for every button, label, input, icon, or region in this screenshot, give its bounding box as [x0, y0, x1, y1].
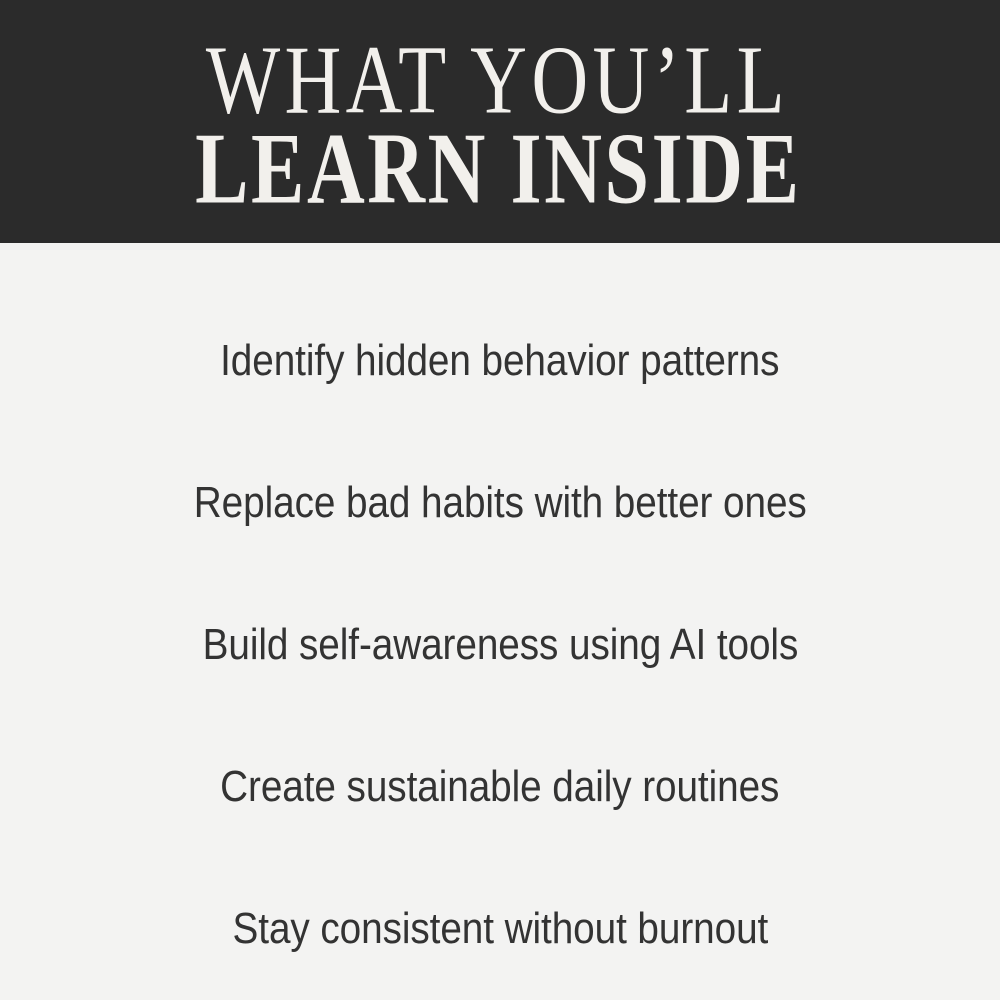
page-title-line-2: LEARN INSIDE [196, 120, 805, 218]
benefits-list: Identify hidden behavior patterns Replac… [0, 243, 1000, 1000]
list-item: Replace bad habits with better ones [0, 432, 1000, 574]
header-band: WHAT YOU’LL LEARN INSIDE [0, 0, 1000, 243]
benefit-text: Create sustainable daily routines [220, 763, 779, 811]
benefit-text: Stay consistent without burnout [232, 905, 768, 953]
slide-root: WHAT YOU’LL LEARN INSIDE Identify hidden… [0, 0, 1000, 1000]
list-item: Identify hidden behavior patterns [0, 290, 1000, 432]
benefit-text: Identify hidden behavior patterns [220, 337, 779, 385]
benefit-text: Replace bad habits with better ones [194, 479, 807, 527]
list-item: Stay consistent without burnout [0, 858, 1000, 1000]
list-item: Build self-awareness using AI tools [0, 574, 1000, 716]
page-title: WHAT YOU’LL LEARN INSIDE [119, 33, 880, 215]
list-item: Create sustainable daily routines [0, 716, 1000, 858]
benefit-text: Build self-awareness using AI tools [202, 621, 798, 669]
